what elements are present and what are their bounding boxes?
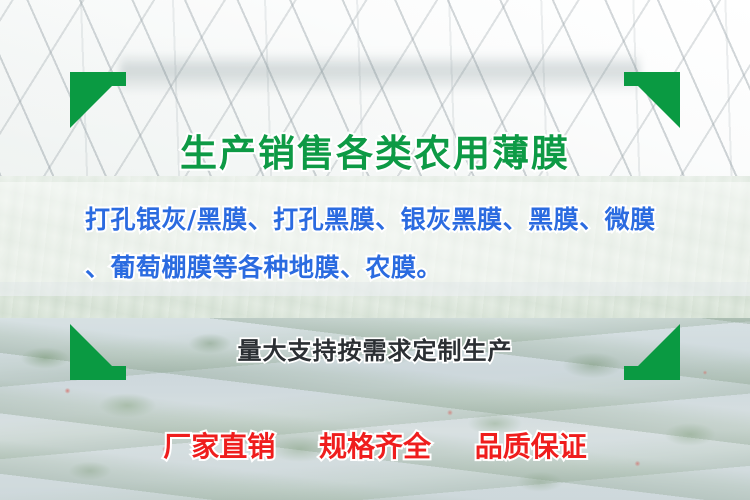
selling-point-2: 规格齐全 <box>319 425 431 465</box>
selling-point-1: 厂家直销 <box>163 425 275 465</box>
promo-banner: 生产销售各类农用薄膜 打孔银灰/黑膜、打孔黑膜、银灰黑膜、黑膜、微膜 、葡萄棚膜… <box>0 0 750 500</box>
product-description: 打孔银灰/黑膜、打孔黑膜、银灰黑膜、黑膜、微膜 、葡萄棚膜等各种地膜、农膜。 <box>85 196 685 292</box>
headline: 生产销售各类农用薄膜 <box>0 123 750 177</box>
distant-treeline-haze <box>120 52 640 92</box>
product-description-line-1: 打孔银灰/黑膜、打孔黑膜、银灰黑膜、黑膜、微膜 <box>85 196 685 244</box>
product-description-line-2: 、葡萄棚膜等各种地膜、农膜。 <box>85 244 685 292</box>
selling-point-3: 品质保证 <box>475 425 587 465</box>
custom-production-note: 量大支持按需求定制生产 <box>0 331 750 366</box>
selling-points: 厂家直销 规格齐全 品质保证 <box>0 425 750 465</box>
